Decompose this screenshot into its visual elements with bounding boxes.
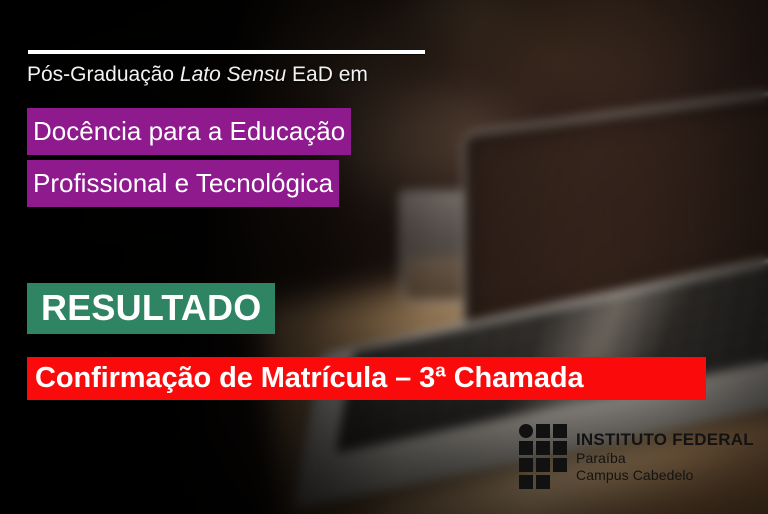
poster-content: Pós-Graduação Lato Sensu EaD em Docência… <box>0 0 768 514</box>
program-kicker: Pós-Graduação Lato Sensu EaD em <box>27 61 368 89</box>
kicker-suffix: EaD em <box>286 63 368 86</box>
if-mark-square <box>519 475 533 489</box>
logo-state: Paraíba <box>576 450 754 467</box>
if-mark-square <box>536 458 550 472</box>
logo-title: INSTITUTO FEDERAL <box>576 430 754 450</box>
top-divider-rule <box>28 50 425 54</box>
course-title-line-1: Docência para a Educação <box>27 108 351 155</box>
if-mark-square <box>519 441 533 455</box>
if-mark-square <box>553 441 567 455</box>
logo-wordmark: INSTITUTO FEDERAL Paraíba Campus Cabedel… <box>576 424 754 483</box>
if-mark-square <box>519 458 533 472</box>
if-mark-square <box>536 441 550 455</box>
result-badge: RESULTADO <box>27 283 275 334</box>
instituto-federal-logo: INSTITUTO FEDERAL Paraíba Campus Cabedel… <box>519 424 754 489</box>
logo-campus: Campus Cabedelo <box>576 467 754 484</box>
poster-canvas: MacBook Air Pós-Graduação Lato Sensu EaD… <box>0 0 768 514</box>
if-mark-square <box>536 424 550 438</box>
course-title-line-2: Profissional e Tecnológica <box>27 160 339 207</box>
if-mark-empty-cell <box>553 475 567 489</box>
kicker-prefix: Pós-Graduação <box>27 63 180 86</box>
if-mark-square <box>553 424 567 438</box>
kicker-italic-lato-sensu: Lato Sensu <box>180 63 286 86</box>
if-grid-mark-icon <box>519 424 565 489</box>
if-mark-square <box>553 458 567 472</box>
if-mark-circle <box>519 424 533 438</box>
enrollment-call-banner: Confirmação de Matrícula – 3ª Chamada <box>27 357 706 400</box>
if-mark-square <box>536 475 550 489</box>
